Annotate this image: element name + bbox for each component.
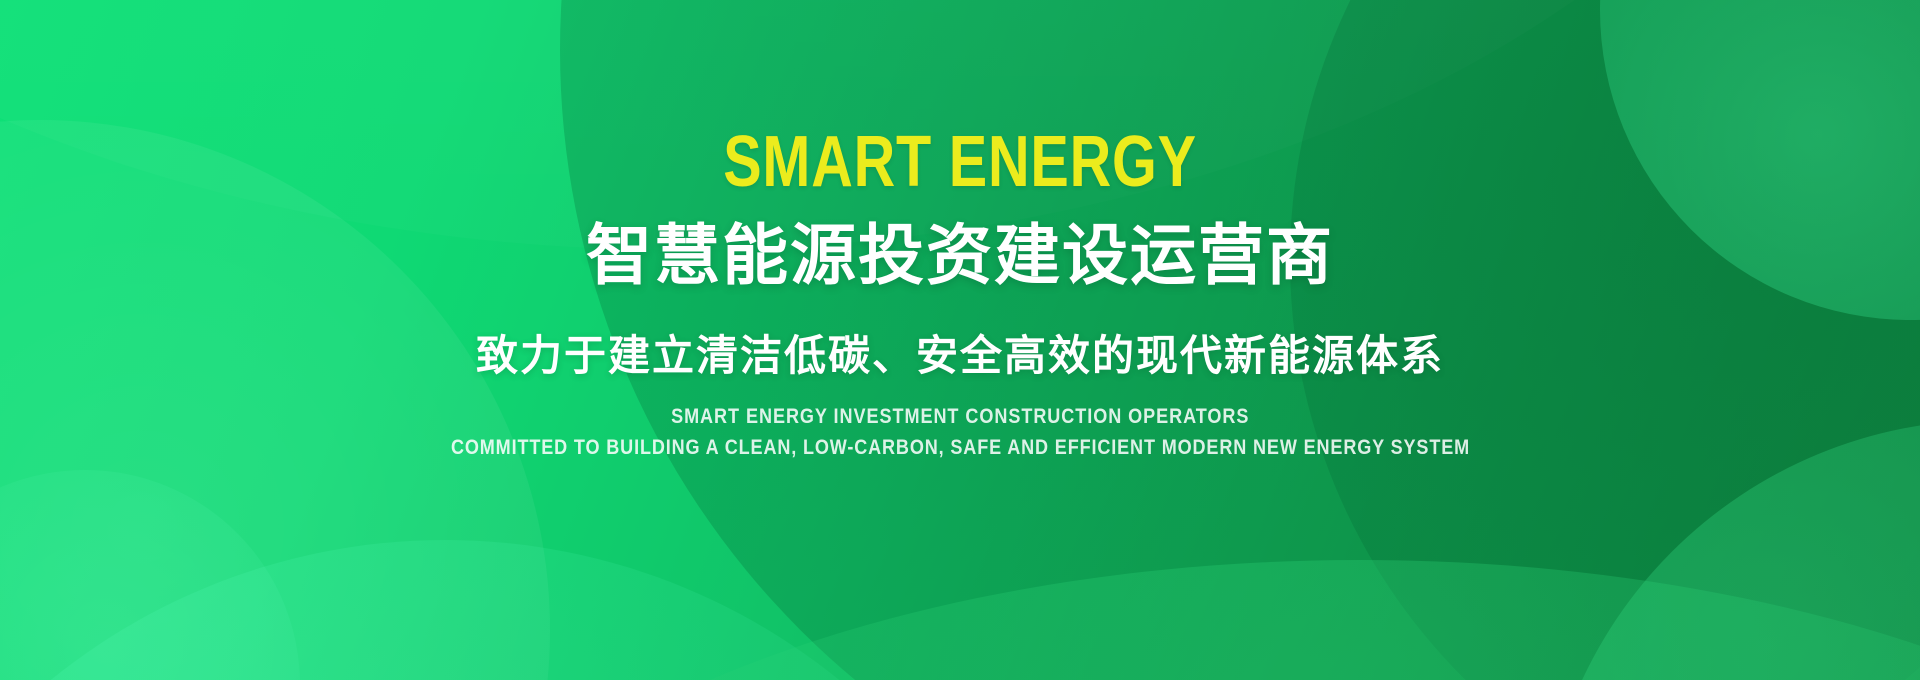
caption-block: SMART ENERGY INVESTMENT CONSTRUCTION OPE… bbox=[368, 405, 1553, 459]
banner-content: SMART ENERGY 智慧能源投资建设运营商 致力于建立清洁低碳、安全高效的… bbox=[0, 0, 1920, 680]
headline-chinese: 智慧能源投资建设运营商 bbox=[586, 220, 1334, 291]
headline-english: SMART ENERGY bbox=[723, 126, 1197, 198]
hero-banner: SMART ENERGY 智慧能源投资建设运营商 致力于建立清洁低碳、安全高效的… bbox=[0, 0, 1920, 680]
subtitle-chinese: 致力于建立清洁低碳、安全高效的现代新能源体系 bbox=[476, 333, 1444, 379]
caption-english-line-2: COMMITTED TO BUILDING A CLEAN, LOW-CARBO… bbox=[450, 436, 1469, 460]
caption-english-line-1: SMART ENERGY INVESTMENT CONSTRUCTION OPE… bbox=[671, 405, 1249, 429]
